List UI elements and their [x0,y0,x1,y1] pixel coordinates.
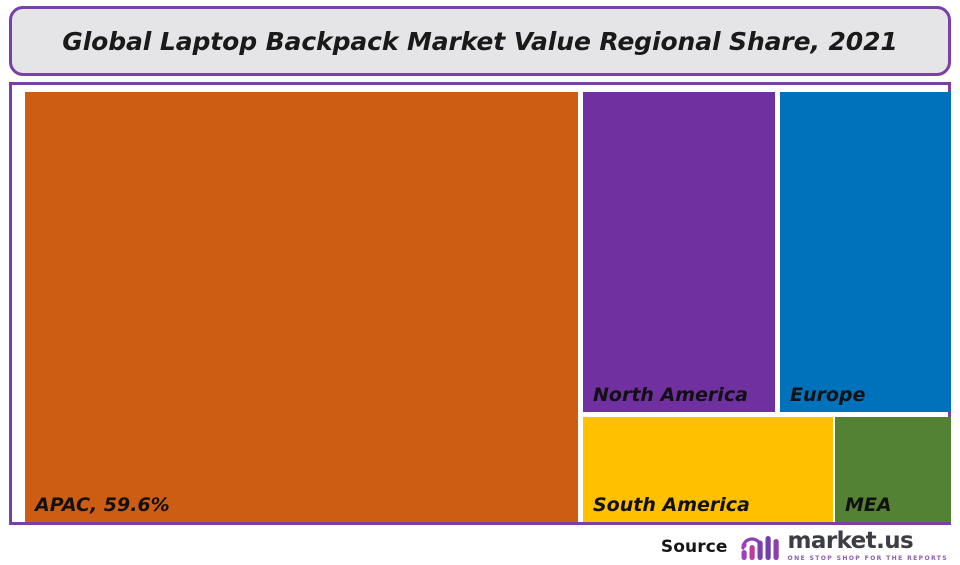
source-footer: Source market.us ONE STOP SHOP FOR THE R… [0,528,960,565]
treemap-tile[interactable]: North America [583,92,775,412]
market-us-logo[interactable]: market.us ONE STOP SHOP FOR THE REPORTS [740,531,948,562]
chart-frame: APAC, 59.6%North AmericaEuropeSouth Amer… [9,82,951,525]
treemap-tile-label: Europe [790,385,865,406]
treemap-tile[interactable]: Europe [780,92,951,412]
logo-tagline: ONE STOP SHOP FOR THE REPORTS [788,555,948,562]
page-title: Global Laptop Backpack Market Value Regi… [62,27,897,56]
source-label: Source [661,537,728,557]
market-us-logo-icon [740,532,782,562]
treemap-chart: APAC, 59.6%North AmericaEuropeSouth Amer… [25,92,951,522]
treemap-tile[interactable]: South America [583,417,833,522]
logo-word-suffix: .us [876,528,913,554]
treemap-tile-label: North America [593,385,748,406]
logo-word-primary: market [788,528,877,554]
treemap-tile[interactable]: MEA [835,417,951,522]
treemap-tile[interactable]: APAC, 59.6% [25,92,578,522]
logo-wordmark: market.us [788,531,948,553]
treemap-tile-label: South America [593,495,750,516]
treemap-tile-label: MEA [845,495,892,516]
treemap-tile-label: APAC, 59.6% [35,495,170,516]
chart-title-box: Global Laptop Backpack Market Value Regi… [9,6,951,76]
